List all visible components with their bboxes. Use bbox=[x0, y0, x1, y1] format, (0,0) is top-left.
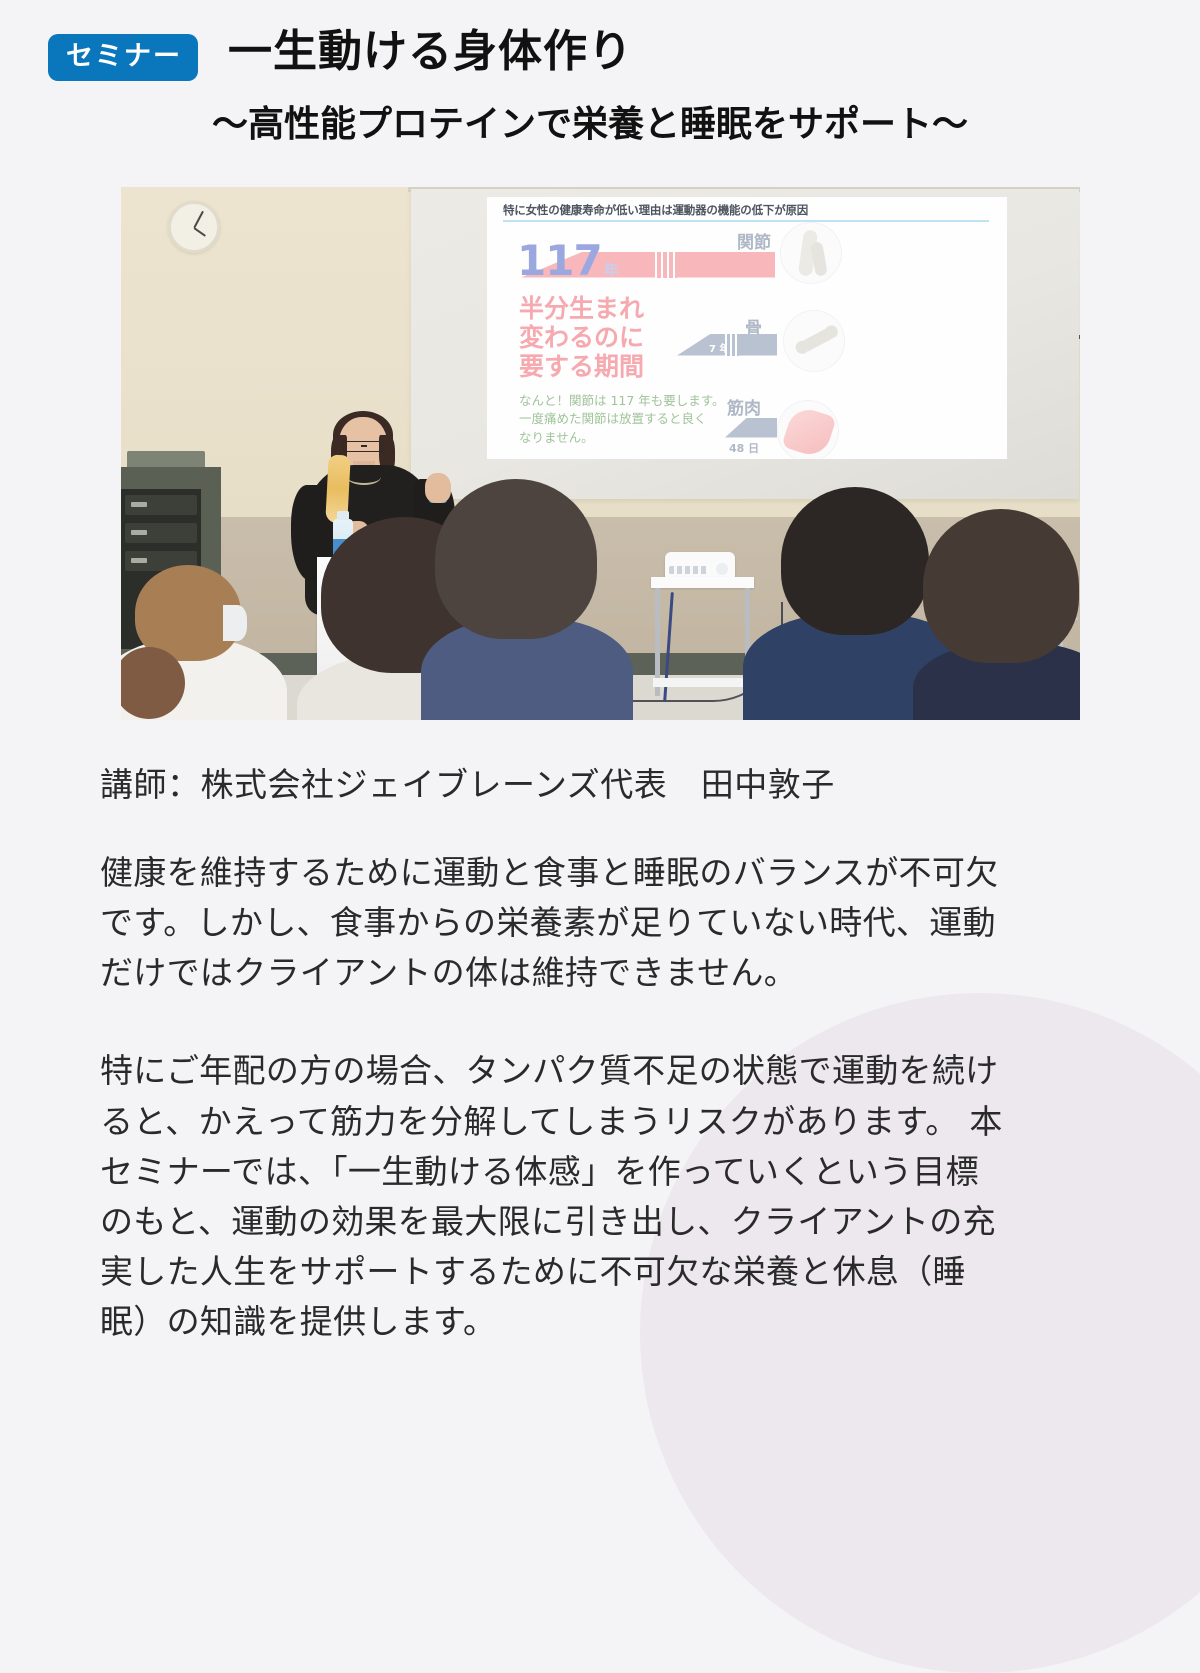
slide-body: 117年 半分生まれ 変わるのに 要する期間 なんと！関節は 117 年も要しま… bbox=[487, 222, 1007, 460]
projector-lens-icon bbox=[716, 563, 728, 575]
seminar-badge: セミナー bbox=[48, 34, 198, 81]
page-subtitle: 〜高性能プロテインで栄養と睡眠をサポート〜 bbox=[0, 95, 1200, 147]
green-line-2: 一度痛めた関節は放置すると良く bbox=[519, 410, 725, 429]
projector-ports bbox=[669, 566, 709, 574]
audience-head bbox=[435, 479, 597, 639]
audience-head bbox=[781, 487, 929, 635]
projection-screen: 特に女性の健康寿命が低い理由は運動器の機能の低下が原因 117年 半分生まれ 変… bbox=[411, 189, 1079, 499]
body-paragraph-2: 特にご年配の方の場合、タンパク質不足の状態で運動を続けると、かえって筋力を分解し… bbox=[100, 1046, 1010, 1347]
slide-label-muscle: 筋肉 bbox=[727, 394, 761, 419]
audience-face-mask bbox=[223, 605, 247, 641]
wall-clock-icon bbox=[168, 201, 220, 253]
big-number-value: 117 bbox=[517, 236, 602, 285]
pink-line-2: 変わるのに bbox=[519, 323, 644, 352]
av-rack-unit bbox=[125, 523, 197, 543]
green-line-1: なんと！関節は 117 年も要します。 bbox=[519, 392, 725, 411]
body-paragraph-1: 健康を維持するために運動と食事と睡眠のバランスが不可欠です。しかし、食事からの栄… bbox=[100, 848, 1010, 998]
green-line-3: なりません。 bbox=[519, 429, 725, 448]
bone-bar-stripes bbox=[725, 334, 739, 356]
page-root: セミナー 一生動ける身体作り 〜高性能プロテインで栄養と睡眠をサポート〜 特に女… bbox=[0, 0, 1200, 1347]
slide-headline: 特に女性の健康寿命が低い理由は運動器の機能の低下が原因 bbox=[487, 197, 1007, 220]
cart-shelf bbox=[653, 678, 752, 687]
pink-line-3: 要する期間 bbox=[519, 352, 644, 381]
projector-device bbox=[665, 552, 735, 579]
av-rack-top bbox=[127, 451, 205, 467]
speaker-glasses-icon bbox=[343, 441, 383, 452]
audience-head bbox=[923, 509, 1079, 663]
muscle-bar-value: 48 日 bbox=[729, 440, 759, 456]
slide-pink-text: 半分生まれ 変わるのに 要する期間 bbox=[519, 294, 644, 381]
projector-cart bbox=[651, 577, 754, 705]
speaker-hand-right bbox=[425, 473, 451, 503]
big-number-unit: 年 bbox=[604, 261, 618, 279]
muscle-bar bbox=[725, 418, 777, 438]
slide-green-note: なんと！関節は 117 年も要します。 一度痛めた関節は放置すると良く なりませ… bbox=[519, 392, 725, 448]
page-title: 一生動ける身体作り bbox=[228, 27, 633, 76]
cart-top bbox=[651, 577, 754, 588]
projected-slide: 特に女性の健康寿命が低い理由は運動器の機能の低下が原因 117年 半分生まれ 変… bbox=[487, 197, 1007, 459]
av-rack-unit bbox=[125, 495, 197, 515]
seminar-photo: 特に女性の健康寿命が低い理由は運動器の機能の低下が原因 117年 半分生まれ 変… bbox=[121, 187, 1080, 720]
slide-label-joint: 関節 bbox=[737, 228, 771, 253]
joint-bar-stripes bbox=[655, 252, 677, 278]
pink-line-1: 半分生まれ bbox=[519, 294, 644, 323]
article-content: 講師：株式会社ジェイブレーンズ代表 田中敦子 健康を維持するために運動と食事と睡… bbox=[0, 720, 1010, 1347]
title-row: セミナー 一生動ける身体作り bbox=[0, 27, 1200, 81]
big-number: 117年 bbox=[517, 240, 618, 282]
lecturer-line: 講師：株式会社ジェイブレーンズ代表 田中敦子 bbox=[100, 758, 1010, 806]
page-header: セミナー 一生動ける身体作り 〜高性能プロテインで栄養と睡眠をサポート〜 bbox=[0, 0, 1200, 147]
speaker-necklace bbox=[347, 469, 381, 485]
